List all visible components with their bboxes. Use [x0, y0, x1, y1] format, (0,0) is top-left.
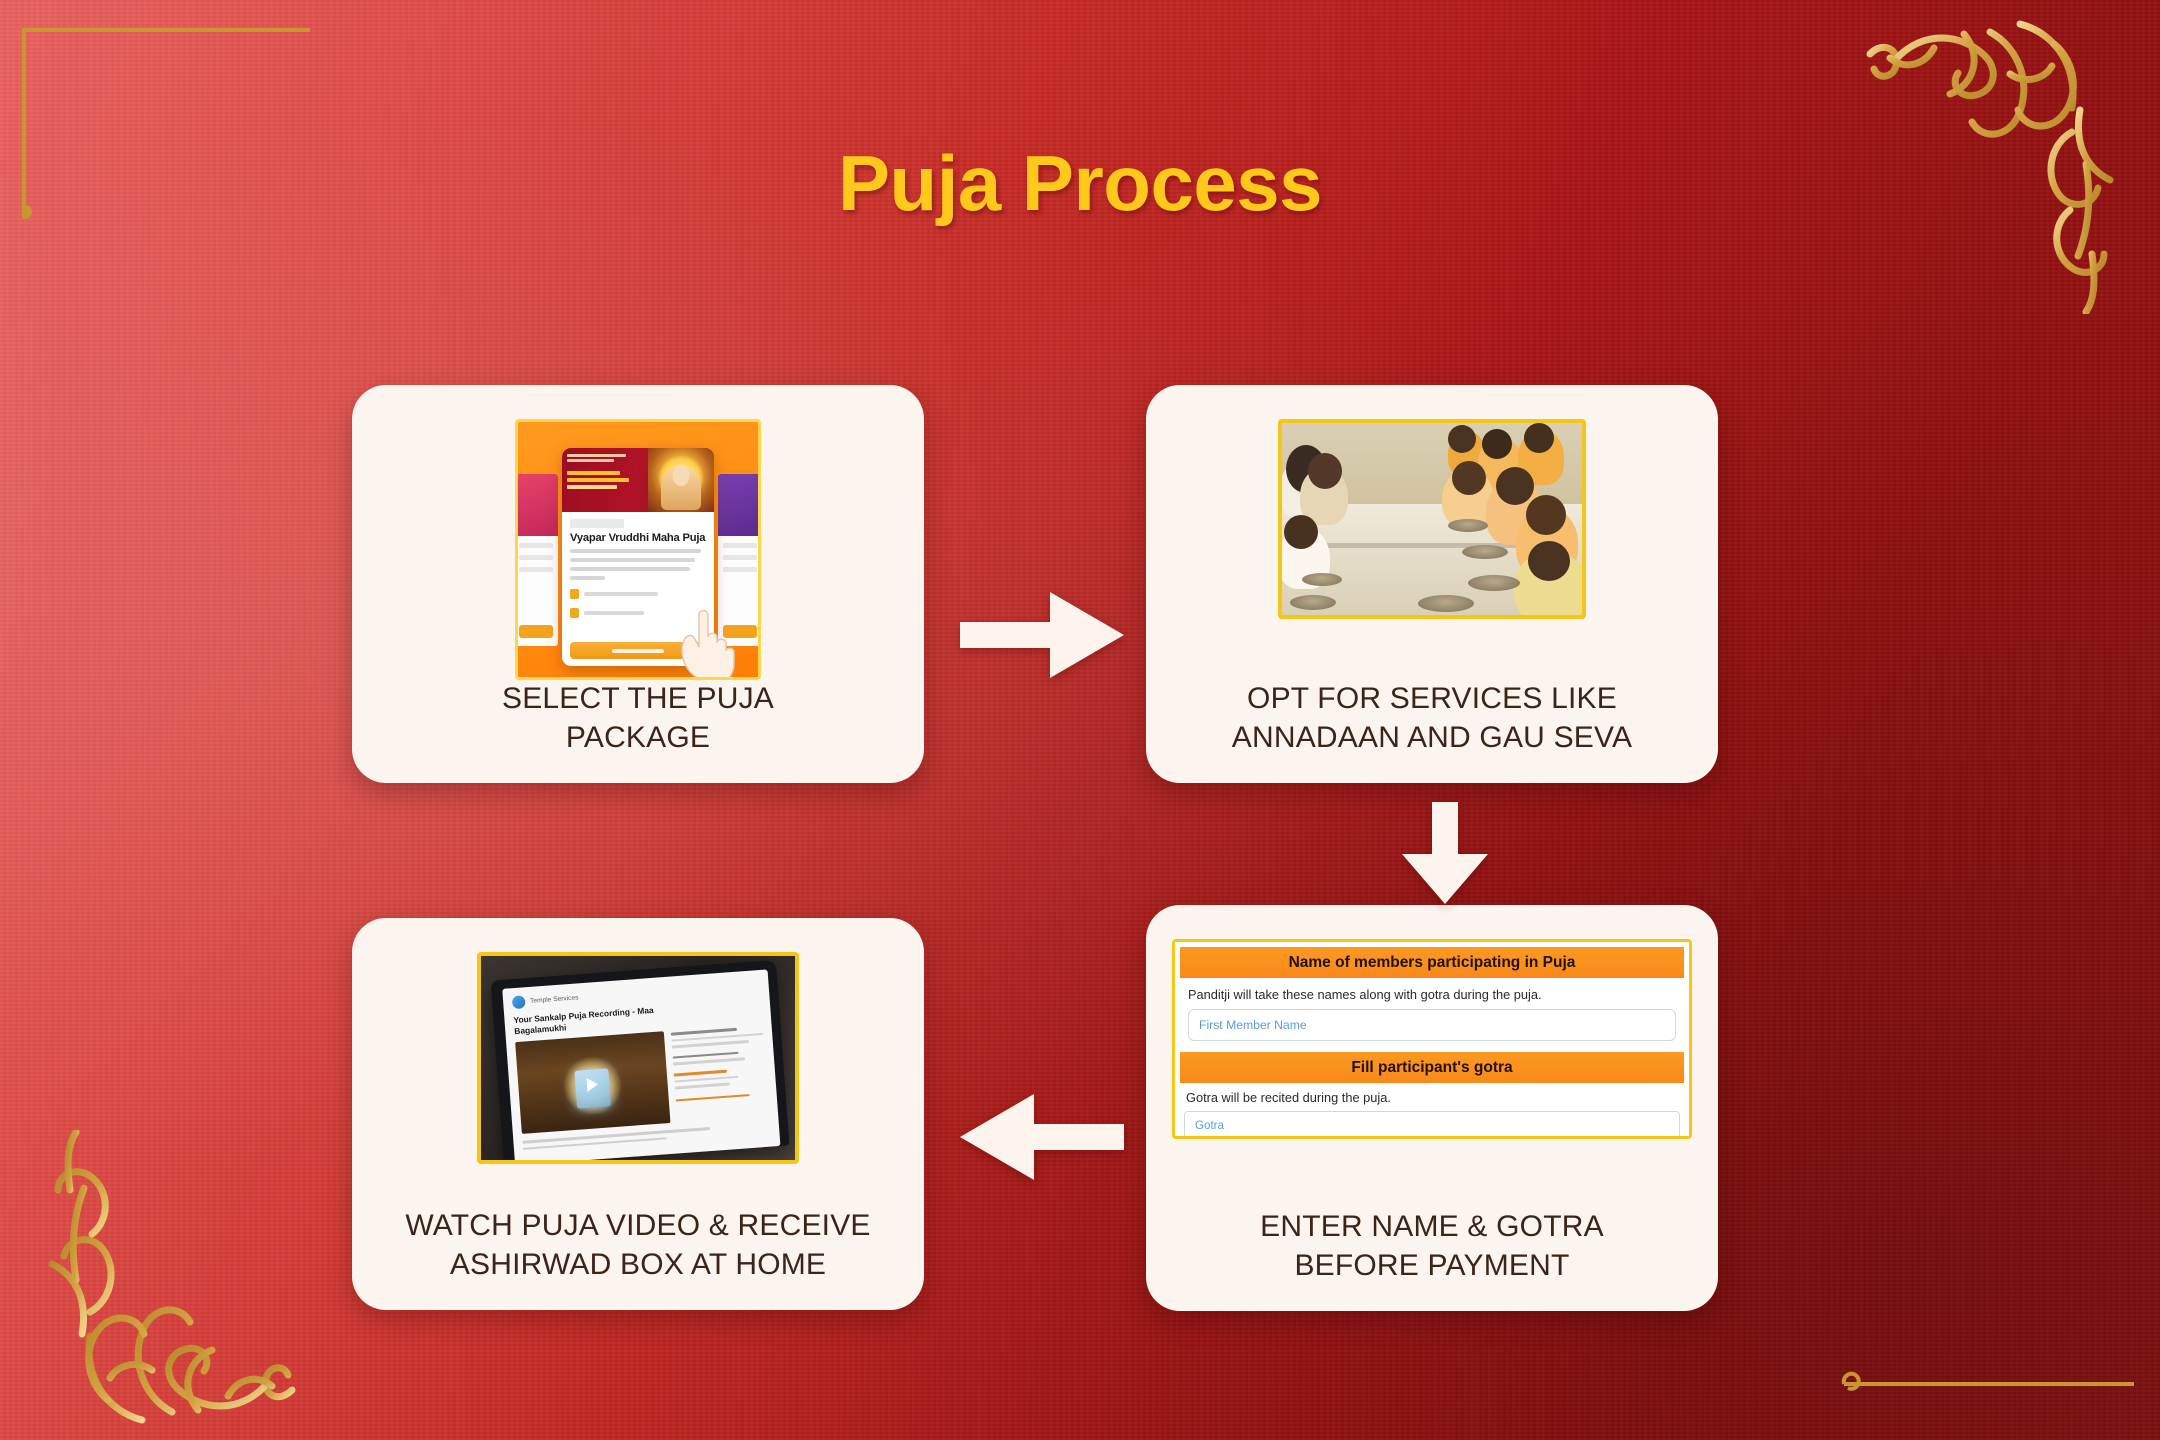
- step-2-caption-line2: ANNADAAN AND GAU SEVA: [1232, 719, 1632, 757]
- step-2-caption-line1: OPT FOR SERVICES LIKE: [1232, 680, 1632, 718]
- category-tag: [570, 519, 624, 528]
- step-1-caption: SELECT THE PUJA PACKAGE: [502, 680, 774, 763]
- step-4-caption-line2: ASHIRWAD BOX AT HOME: [405, 1246, 870, 1284]
- step-4-caption-line1: WATCH PUJA VIDEO & RECEIVE: [405, 1207, 870, 1245]
- sender-avatar-icon: [512, 995, 526, 1009]
- step-4-thumbnail-laptop-photo: Temple Services Your Sankalp Puja Record…: [477, 952, 799, 1164]
- deity-illustration: [648, 448, 714, 512]
- puja-description: [570, 549, 706, 580]
- puja-banner-image: [562, 448, 714, 512]
- step-1-caption-line1: SELECT THE PUJA: [502, 680, 774, 718]
- email-side-text: [671, 1024, 770, 1123]
- email-sender-row: Temple Services: [512, 978, 760, 1009]
- email-screen: Temple Services Your Sankalp Puja Record…: [502, 969, 780, 1164]
- video-thumbnail[interactable]: [515, 1031, 670, 1134]
- puja-location-row: [570, 589, 706, 599]
- step-card-watch-video[interactable]: Temple Services Your Sankalp Puja Record…: [352, 918, 924, 1310]
- arrow-step3-to-step4-icon: [958, 1088, 1126, 1191]
- step-3-thumbnail-form-mockup: Name of members participating in Puja Pa…: [1172, 939, 1692, 1139]
- step-1-thumbnail: Vyapar Vruddhi Maha Puja: [515, 419, 761, 680]
- puja-package-title: Vyapar Vruddhi Maha Puja: [570, 532, 706, 544]
- member-name-input[interactable]: First Member Name: [1188, 1009, 1676, 1041]
- email-sender-name: Temple Services: [530, 994, 579, 1005]
- play-icon[interactable]: [587, 1077, 599, 1092]
- step-card-select-package[interactable]: Vyapar Vruddhi Maha Puja: [352, 385, 924, 783]
- step-3-caption-line1: ENTER NAME & GOTRA: [1260, 1208, 1604, 1246]
- form-note-gotra: Gotra will be recited during the puja.: [1180, 1083, 1684, 1111]
- poster-side-card-left: [515, 474, 558, 646]
- step-2-thumbnail-annadaan-photo: [1278, 419, 1586, 619]
- email-subject: Your Sankalp Puja Recording - Maa Bagala…: [513, 1004, 668, 1036]
- form-note-members: Panditji will take these names along wit…: [1180, 978, 1684, 1009]
- process-flow-board: Vyapar Vruddhi Maha Puja: [0, 0, 2160, 1440]
- step-3-caption: ENTER NAME & GOTRA BEFORE PAYMENT: [1260, 1208, 1604, 1291]
- step-card-opt-services[interactable]: OPT FOR SERVICES LIKE ANNADAAN AND GAU S…: [1146, 385, 1718, 783]
- step-3-caption-line2: BEFORE PAYMENT: [1260, 1247, 1604, 1285]
- laptop-mockup: Temple Services Your Sankalp Puja Record…: [491, 960, 790, 1164]
- step-2-caption: OPT FOR SERVICES LIKE ANNADAAN AND GAU S…: [1232, 680, 1632, 763]
- step-4-caption: WATCH PUJA VIDEO & RECEIVE ASHIRWAD BOX …: [405, 1207, 870, 1290]
- step-1-caption-line2: PACKAGE: [502, 719, 774, 757]
- tap-hand-cursor-icon: [670, 599, 744, 680]
- form-header-members: Name of members participating in Puja: [1180, 947, 1684, 978]
- gotra-input[interactable]: Gotra: [1184, 1111, 1680, 1139]
- arrow-step2-to-step3-icon: [1396, 800, 1494, 911]
- form-header-gotra: Fill participant's gotra: [1180, 1052, 1684, 1083]
- step-card-enter-name-gotra[interactable]: Name of members participating in Puja Pa…: [1146, 905, 1718, 1311]
- arrow-step1-to-step2-icon: [958, 586, 1126, 689]
